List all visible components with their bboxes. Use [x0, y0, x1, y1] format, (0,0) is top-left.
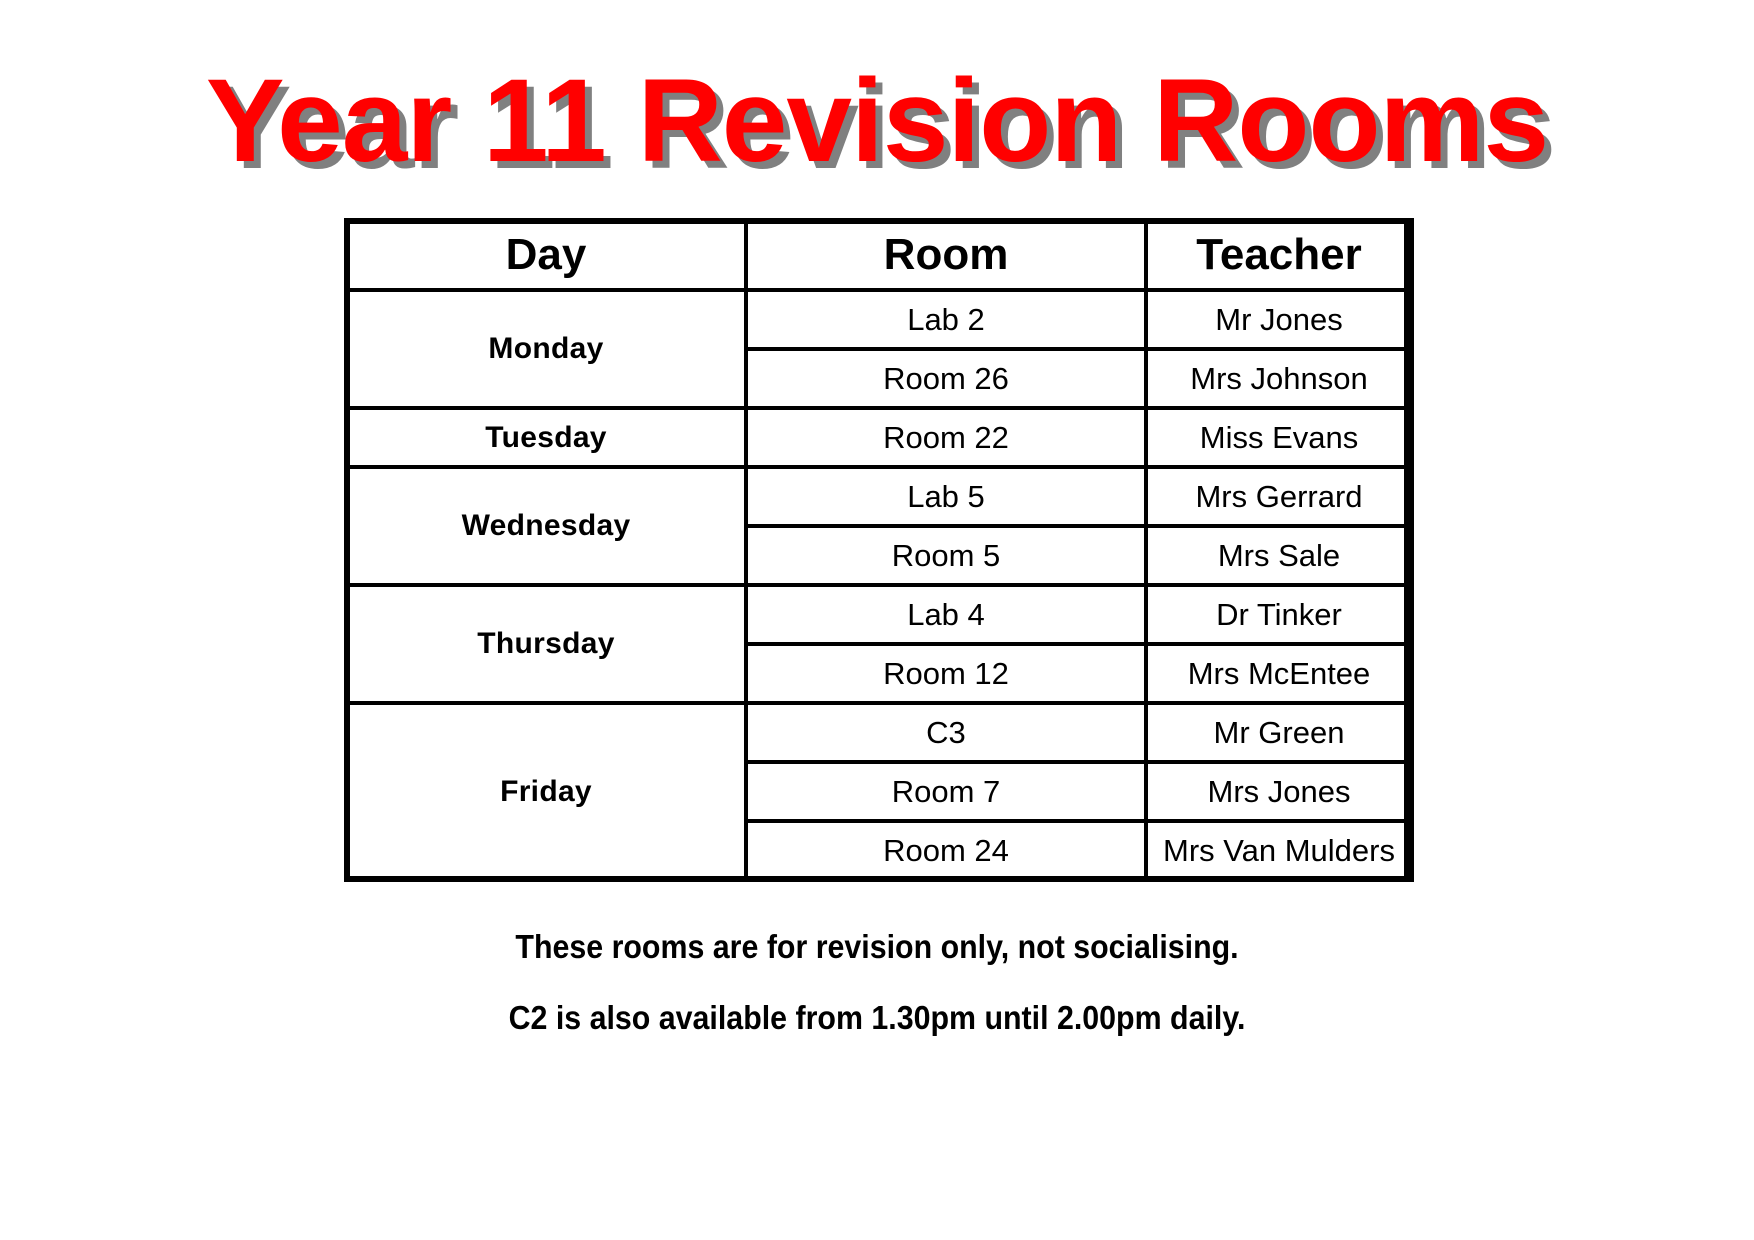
footer-notes: These rooms are for revision only, not s…	[0, 930, 1754, 1034]
teacher-cell: Mrs Jones	[1146, 762, 1412, 821]
day-cell: Monday	[346, 290, 746, 408]
teacher-cell: Mrs Sale	[1146, 526, 1412, 585]
footer-note-revision-only: These rooms are for revision only, not s…	[70, 930, 1684, 963]
teacher-cell: Miss Evans	[1146, 408, 1412, 467]
day-cell: Tuesday	[346, 408, 746, 467]
table-row: WednesdayLab 5Mrs Gerrard	[346, 467, 1412, 526]
teacher-cell: Dr Tinker	[1146, 585, 1412, 644]
room-cell: Lab 4	[746, 585, 1146, 644]
teacher-cell: Mrs Johnson	[1146, 349, 1412, 408]
column-header-day: Day	[346, 220, 746, 290]
table-header-row: Day Room Teacher	[346, 220, 1412, 290]
table-row: TuesdayRoom 22Miss Evans	[346, 408, 1412, 467]
table-body: MondayLab 2Mr JonesRoom 26Mrs JohnsonTue…	[346, 290, 1412, 880]
column-header-room: Room	[746, 220, 1146, 290]
table-header: Day Room Teacher	[346, 220, 1412, 290]
room-cell: C3	[746, 703, 1146, 762]
title-container: Year 11 Revision Rooms	[0, 62, 1754, 192]
teacher-cell: Mrs Van Mulders	[1146, 821, 1412, 880]
teacher-cell: Mrs McEntee	[1146, 644, 1412, 703]
room-cell: Lab 5	[746, 467, 1146, 526]
day-cell: Thursday	[346, 585, 746, 703]
room-cell: Room 22	[746, 408, 1146, 467]
revision-schedule-table: Day Room Teacher MondayLab 2Mr JonesRoom…	[344, 218, 1414, 882]
room-cell: Room 7	[746, 762, 1146, 821]
table-row: FridayC3Mr Green	[346, 703, 1412, 762]
footer-note-c2-availability: C2 is also available from 1.30pm until 2…	[70, 1001, 1684, 1034]
table-row: MondayLab 2Mr Jones	[346, 290, 1412, 349]
teacher-cell: Mr Jones	[1146, 290, 1412, 349]
room-cell: Lab 2	[746, 290, 1146, 349]
schedule-table-container: Day Room Teacher MondayLab 2Mr JonesRoom…	[344, 218, 1410, 882]
room-cell: Room 26	[746, 349, 1146, 408]
day-cell: Wednesday	[346, 467, 746, 585]
room-cell: Room 12	[746, 644, 1146, 703]
teacher-cell: Mrs Gerrard	[1146, 467, 1412, 526]
room-cell: Room 24	[746, 821, 1146, 880]
room-cell: Room 5	[746, 526, 1146, 585]
page-title: Year 11 Revision Rooms	[206, 62, 1548, 180]
revision-rooms-poster: Year 11 Revision Rooms Day Room Teacher …	[0, 0, 1754, 1240]
day-cell: Friday	[346, 703, 746, 880]
teacher-cell: Mr Green	[1146, 703, 1412, 762]
column-header-teacher: Teacher	[1146, 220, 1412, 290]
table-row: ThursdayLab 4Dr Tinker	[346, 585, 1412, 644]
